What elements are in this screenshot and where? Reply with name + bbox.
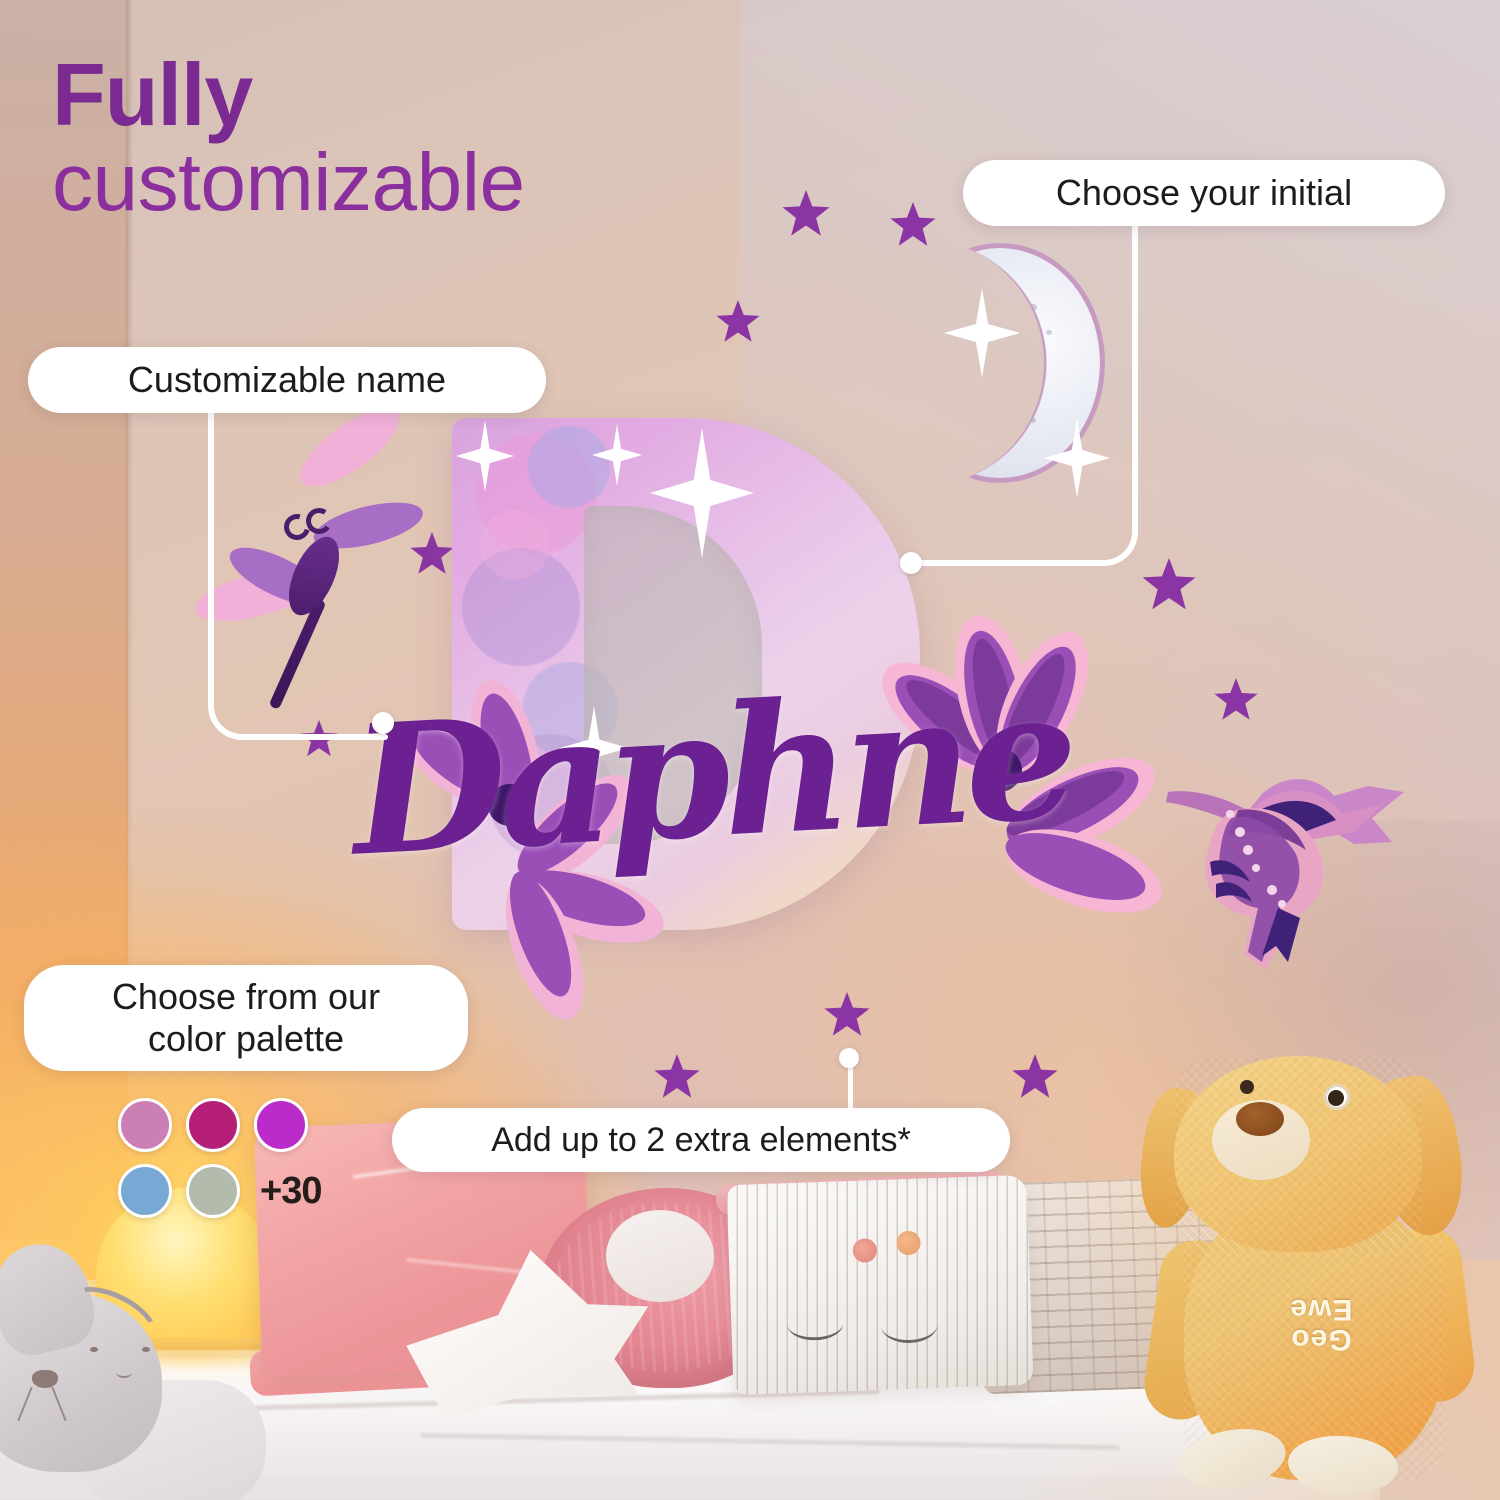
cushion-stripes (726, 1175, 1033, 1395)
connector-name-dot (372, 712, 394, 734)
headline-line2: customizable (52, 140, 812, 225)
bokeh-circle (528, 426, 610, 508)
moon-icon (900, 248, 1100, 478)
swatch-magenta[interactable] (186, 1098, 240, 1152)
bunny-nose (32, 1370, 58, 1388)
connector-initial-vertical (1132, 224, 1138, 524)
connector-name-horizontal (268, 734, 388, 740)
callout-extra-elements[interactable]: Add up to 2 extra elements* (392, 1108, 1010, 1172)
connector-name-corner (208, 672, 276, 740)
moon-crater (1028, 304, 1037, 311)
bokeh-circle (480, 510, 550, 580)
customizable-name-script: Daphne (347, 649, 1075, 895)
doll-eye (142, 1347, 150, 1352)
callout-customizable-name[interactable]: Customizable name (28, 347, 546, 413)
swatch-sage-grey[interactable] (186, 1164, 240, 1218)
dog-embroidery-text: Geo Ewe (1246, 1294, 1396, 1354)
callout-choose-initial[interactable]: Choose your initial (963, 160, 1445, 226)
hummingbird-spot (1243, 845, 1253, 855)
hummingbird-icon (1158, 758, 1408, 978)
doll-eye (90, 1347, 98, 1352)
doll-mouth (116, 1367, 132, 1378)
swatch-dusty-pink[interactable] (118, 1098, 172, 1152)
hummingbird-svg (1158, 758, 1408, 978)
headline-line1: Fully (52, 52, 812, 138)
callout-color-palette[interactable]: Choose from our color palette (24, 965, 468, 1071)
swatch-row-1 (118, 1098, 321, 1152)
callout-palette-line2: color palette (112, 1018, 380, 1060)
color-palette-swatches[interactable]: +30 (118, 1098, 321, 1230)
moon-crescent (900, 248, 1100, 478)
hummingbird-spot (1278, 900, 1286, 908)
hummingbird-eye (1226, 810, 1234, 818)
dog-text-line1: Geo (1246, 1324, 1396, 1354)
connector-initial-corner (1066, 494, 1138, 566)
hummingbird-spot (1235, 827, 1245, 837)
hummingbird-spot (1267, 885, 1277, 895)
dog-text-line2: Ewe (1246, 1294, 1396, 1324)
swatch-sky-blue[interactable] (118, 1164, 172, 1218)
dog-pupil (1328, 1090, 1344, 1106)
moon-crater (1036, 348, 1041, 352)
connector-initial-dot (900, 552, 922, 574)
bunny-plush (0, 1240, 182, 1500)
product-marketing-image: Geo Ewe (0, 0, 1500, 1500)
connector-initial-horizontal (916, 560, 1074, 566)
hummingbird-spot (1252, 864, 1260, 872)
dog-nose (1236, 1102, 1284, 1136)
callout-palette-line1: Choose from our (112, 976, 380, 1018)
smiley-striped-cushion (726, 1175, 1033, 1395)
moon-crater (1030, 418, 1036, 423)
connector-name-vertical (208, 410, 214, 706)
dog-plush: Geo Ewe (1128, 1030, 1500, 1480)
moon-crater (996, 408, 1003, 414)
dragonfly-icon (198, 442, 428, 692)
connector-extra-dot (839, 1048, 859, 1068)
moon-crater (962, 430, 971, 437)
moon-crater (1046, 330, 1052, 335)
swatch-row-2: +30 (118, 1164, 321, 1218)
swatch-bright-purple[interactable] (254, 1098, 308, 1152)
dog-eye (1240, 1080, 1254, 1094)
headline: Fully customizable (52, 52, 812, 226)
doll-face (606, 1210, 714, 1302)
swatch-more-count[interactable]: +30 (260, 1170, 321, 1213)
